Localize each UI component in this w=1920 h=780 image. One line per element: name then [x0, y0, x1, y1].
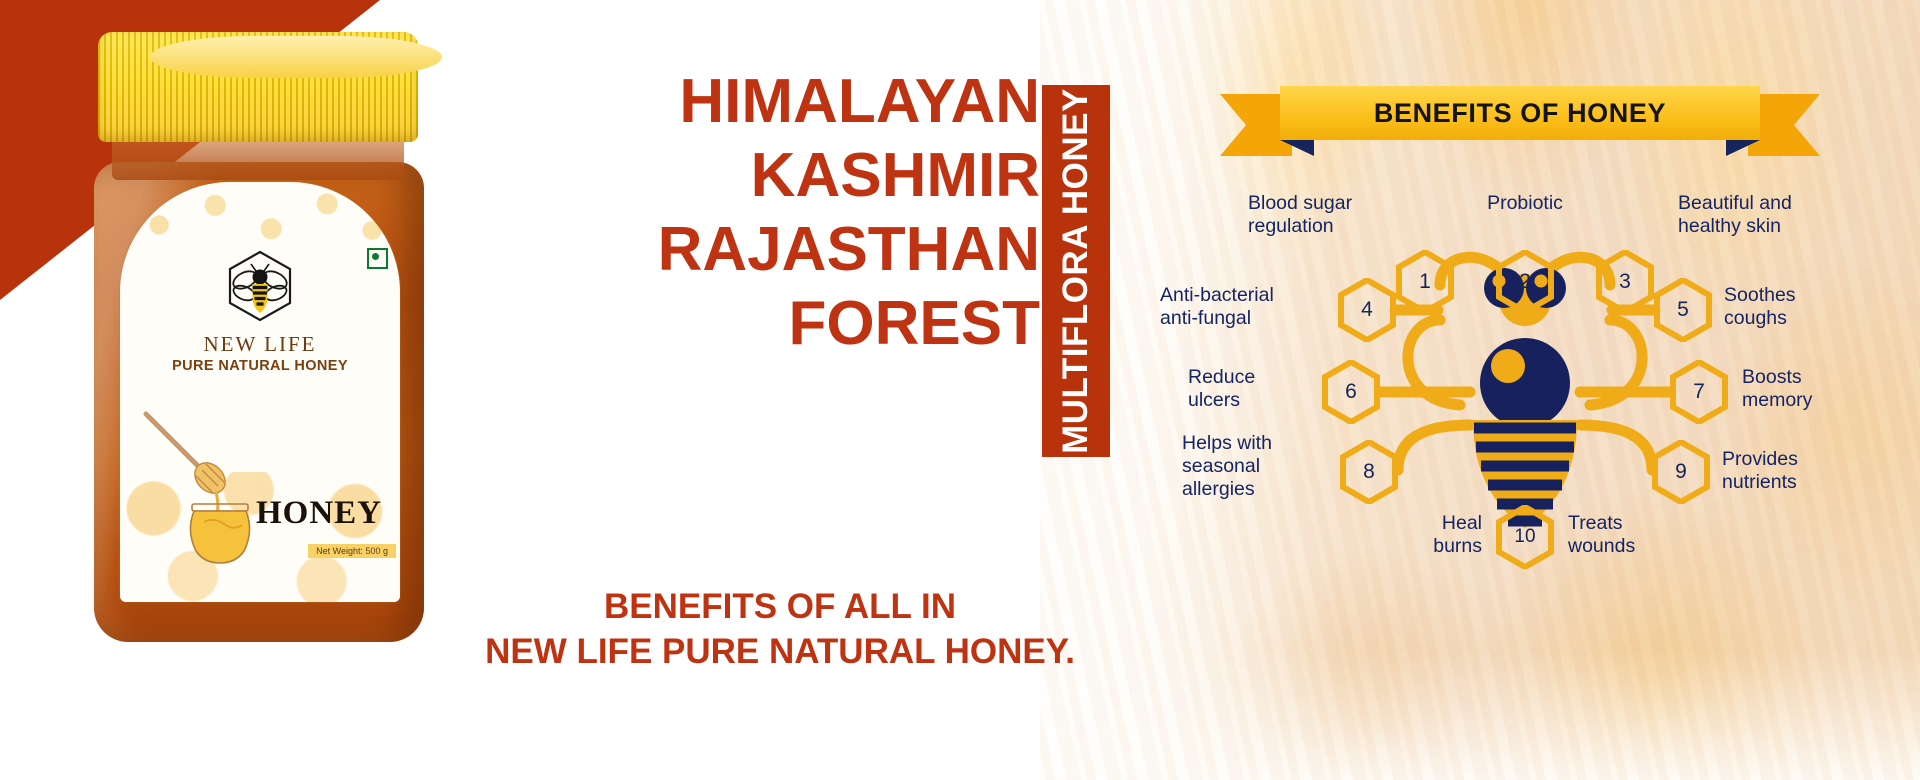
headline-block: HIMALAYAN KASHMIR RAJASTHAN FOREST: [520, 72, 1040, 369]
benefit-label-1: Blood sugar regulation: [1248, 192, 1352, 238]
benefit-number-4: 4: [1338, 278, 1396, 342]
multiflora-honey-label: MULTIFLORA HONEY: [1056, 88, 1096, 454]
benefit-label-4: Anti-bacterial anti-fungal: [1160, 284, 1274, 330]
benefit-number-1: 1: [1396, 250, 1454, 314]
label-brand-subtitle: PURE NATURAL HONEY: [120, 358, 400, 374]
jar-cap-top: [150, 36, 442, 78]
honey-promo-banner: NEW LIFE PURE NATURAL HONEY HONEY Net: [0, 0, 1920, 780]
benefit-number-3: 3: [1596, 250, 1654, 314]
tagline-block: BENEFITS OF ALL IN NEW LIFE PURE NATURAL…: [430, 585, 1130, 675]
benefit-hex-4[interactable]: 4: [1338, 278, 1396, 342]
bee-logo-icon: [225, 250, 295, 328]
label-honeycomb-pattern-top: [120, 182, 400, 260]
benefit-label-2: Probiotic: [1458, 192, 1592, 215]
benefits-infographic: BENEFITS OF HONEY: [1140, 0, 1920, 780]
label-product-word: HONEY: [256, 495, 382, 532]
benefit-hex-1[interactable]: 1: [1396, 250, 1454, 314]
benefit-number-10: 10: [1496, 505, 1554, 569]
benefit-hex-10[interactable]: 10: [1496, 505, 1554, 569]
benefit-hex-8[interactable]: 8: [1340, 440, 1398, 504]
benefit-hex-3[interactable]: 3: [1596, 250, 1654, 314]
headline-line-1: HIMALAYAN: [520, 72, 1040, 132]
benefit-label-8: Helps with seasonal allergies: [1182, 432, 1272, 501]
tagline-line-1: BENEFITS OF ALL IN: [430, 585, 1130, 630]
benefit-label-9: Provides nutrients: [1722, 448, 1798, 494]
label-net-weight: Net Weight: 500 g: [308, 544, 396, 558]
benefit-number-5: 5: [1654, 278, 1712, 342]
vegetarian-mark-icon: [367, 248, 388, 269]
benefit-hex-6[interactable]: 6: [1322, 360, 1380, 424]
benefit-hex-7[interactable]: 7: [1670, 360, 1728, 424]
benefit-label-10-right: Treats wounds: [1568, 512, 1635, 558]
benefits-title-text: BENEFITS OF HONEY: [1280, 86, 1760, 140]
benefits-title-ribbon: BENEFITS OF HONEY: [1220, 86, 1820, 148]
benefit-hex-5[interactable]: 5: [1654, 278, 1712, 342]
headline-line-2: KASHMIR: [520, 146, 1040, 206]
jar-label: NEW LIFE PURE NATURAL HONEY HONEY Net: [120, 182, 400, 602]
benefit-number-2: 2: [1496, 250, 1554, 314]
label-brand-name: NEW LIFE: [120, 332, 400, 357]
headline-line-3: RAJASTHAN: [520, 220, 1040, 280]
multiflora-honey-vertical-banner: MULTIFLORA HONEY: [1042, 85, 1110, 457]
honey-pot-icon: [174, 498, 266, 568]
benefit-number-9: 9: [1652, 440, 1710, 504]
benefit-label-7: Boosts memory: [1742, 366, 1812, 412]
benefit-number-7: 7: [1670, 360, 1728, 424]
benefit-label-3: Beautiful and healthy skin: [1678, 192, 1792, 238]
tagline-line-2: NEW LIFE PURE NATURAL HONEY.: [430, 630, 1130, 675]
benefit-label-6: Reduce ulcers: [1188, 366, 1255, 412]
benefit-label-10-left: Heal burns: [1382, 512, 1482, 558]
jar-cap: [98, 32, 418, 142]
headline-line-4: FOREST: [520, 294, 1040, 354]
benefit-hex-2[interactable]: 2: [1496, 250, 1554, 314]
benefit-label-5: Soothes coughs: [1724, 284, 1796, 330]
benefit-number-6: 6: [1322, 360, 1380, 424]
benefit-number-8: 8: [1340, 440, 1398, 504]
honey-jar-image: NEW LIFE PURE NATURAL HONEY HONEY Net: [60, 32, 460, 652]
benefit-hex-9[interactable]: 9: [1652, 440, 1710, 504]
